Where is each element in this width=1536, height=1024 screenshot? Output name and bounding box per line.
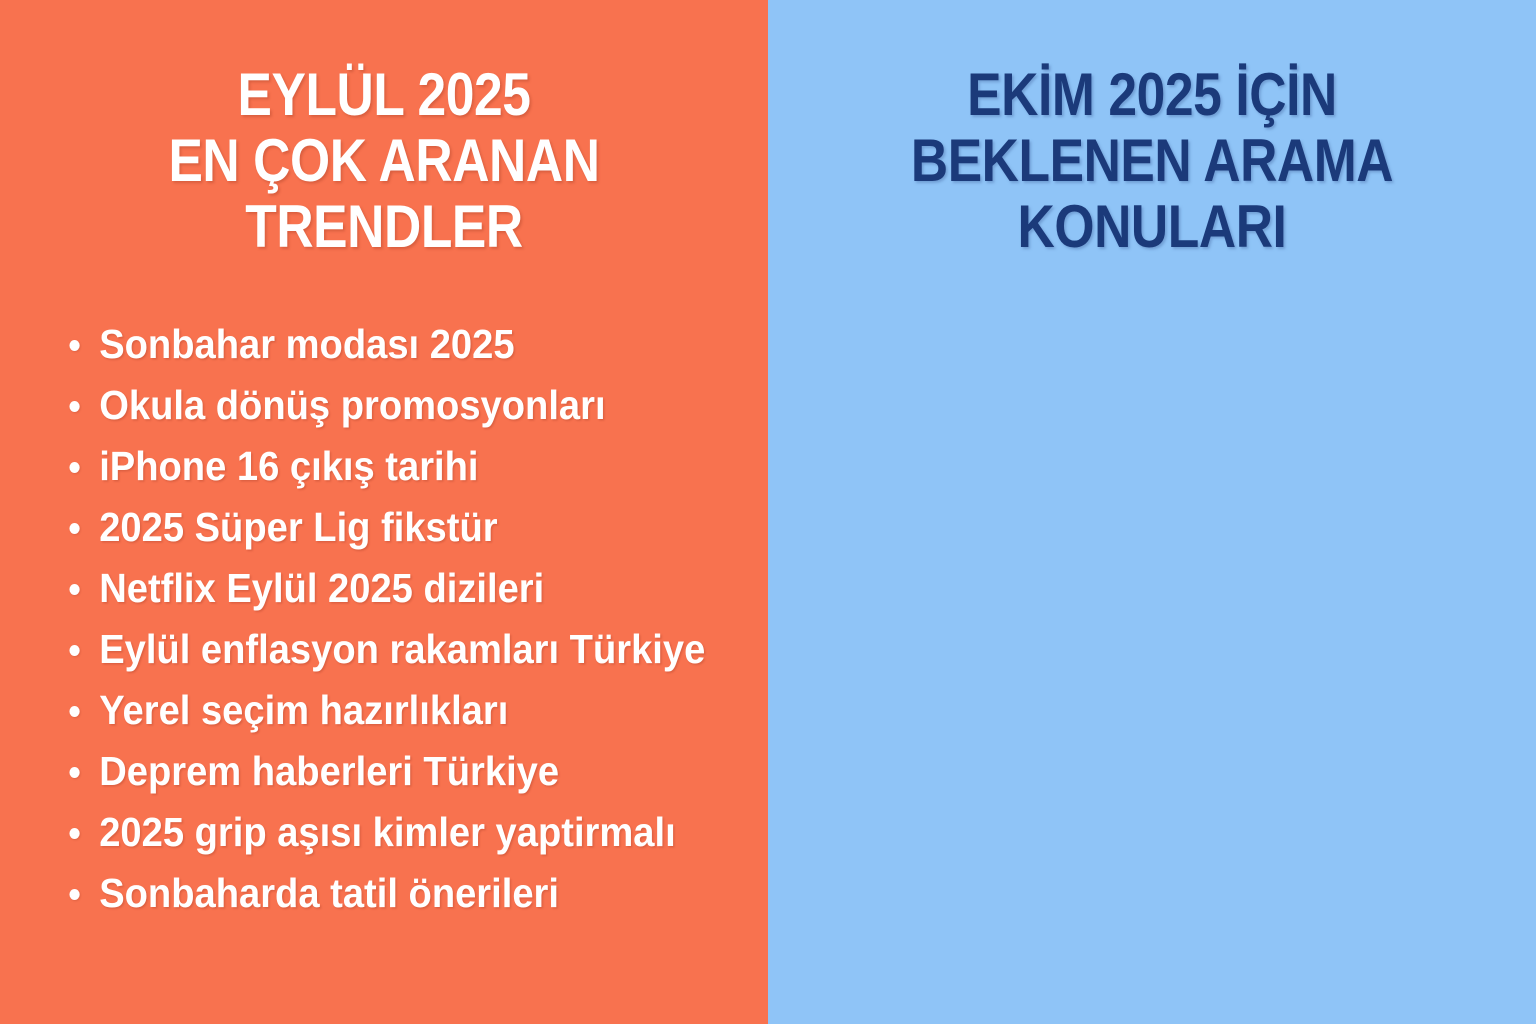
left-trend-label: Netflix Eylül 2025 dizileri xyxy=(99,565,544,611)
bullet-dot-icon xyxy=(69,462,79,473)
left-trend-list: Sonbahar modası 2025Okula dönüş promosyo… xyxy=(62,314,842,924)
left-trend-label: Deprem haberleri Türkiye xyxy=(99,748,559,794)
list-item: iPhone 16 çıkış tarihi xyxy=(62,436,787,497)
left-trend-label: 2025 grip aşısı kimler yaptirmalı xyxy=(99,809,675,855)
bullet-dot-icon xyxy=(69,645,79,656)
bullet-dot-icon xyxy=(69,584,79,595)
bullet-dot-icon xyxy=(69,523,79,534)
list-item: Sonbahar modası 2025 xyxy=(62,314,787,375)
bullet-dot-icon xyxy=(69,889,79,900)
list-item: Eylül enflasyon rakamları Türkiye xyxy=(62,619,787,680)
left-trend-label: Eylül enflasyon rakamları Türkiye xyxy=(99,626,705,672)
list-item: Netflix Eylül 2025 dizileri xyxy=(62,558,787,619)
bullet-dot-icon xyxy=(69,767,79,778)
left-trend-label: Sonbahar modası 2025 xyxy=(99,321,514,367)
panel-october-expected: EKİM 2025 İÇİN BEKLENEN ARAMA KONULARI C… xyxy=(768,0,1536,1024)
left-trend-label: Okula dönüş promosyonları xyxy=(99,382,605,428)
list-item: Sonbaharda tatil önerileri xyxy=(62,863,787,924)
list-item: 2025 Süper Lig fikstür xyxy=(62,497,787,558)
bullet-dot-icon xyxy=(69,401,79,412)
left-trend-label: 2025 Süper Lig fikstür xyxy=(99,504,497,550)
bullet-dot-icon xyxy=(69,828,79,839)
left-trend-label: Sonbaharda tatil önerileri xyxy=(99,870,559,916)
left-panel-title: EYLÜL 2025 EN ÇOK ARANAN TRENDLER xyxy=(54,62,714,260)
list-item: Okula dönüş promosyonları xyxy=(62,375,787,436)
bullet-dot-icon xyxy=(69,340,79,351)
bullet-dot-icon xyxy=(69,706,79,717)
panel-september-trends: EYLÜL 2025 EN ÇOK ARANAN TRENDLER Sonbah… xyxy=(0,0,768,1024)
comparison-board: EYLÜL 2025 EN ÇOK ARANAN TRENDLER Sonbah… xyxy=(0,0,1536,1024)
list-item: Deprem haberleri Türkiye xyxy=(62,741,787,802)
left-trend-label: iPhone 16 çıkış tarihi xyxy=(99,443,478,489)
list-item: Yerel seçim hazırlıkları xyxy=(62,680,787,741)
right-panel-title: EKİM 2025 İÇİN BEKLENEN ARAMA KONULARI xyxy=(822,62,1482,260)
list-item: 2025 grip aşısı kimler yaptirmalı xyxy=(62,802,787,863)
left-trend-label: Yerel seçim hazırlıkları xyxy=(99,687,508,733)
